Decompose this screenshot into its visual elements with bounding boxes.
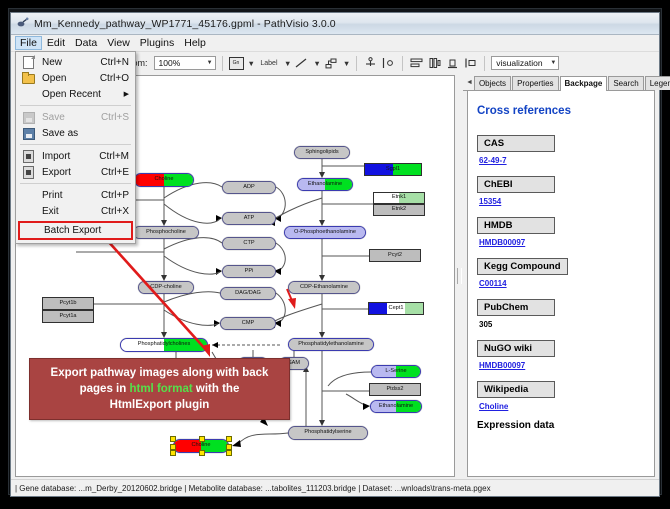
selection-handle[interactable] bbox=[170, 450, 176, 456]
selection-handle[interactable] bbox=[226, 436, 232, 442]
cross-reference-link[interactable]: 15354 bbox=[479, 197, 501, 206]
cross-reference-link[interactable]: HMDB00097 bbox=[479, 238, 525, 247]
menu-item-new-label: New bbox=[42, 57, 62, 68]
pathway-node-o-phosphoeth[interactable]: O-Phosphoethanolamine bbox=[284, 226, 366, 239]
menu-plugins[interactable]: Plugins bbox=[135, 36, 179, 50]
selection-handle[interactable] bbox=[226, 450, 232, 456]
export-icon bbox=[22, 166, 34, 178]
pathway-node-cmp[interactable]: CMP bbox=[220, 317, 276, 330]
node-label: Ethanolamine bbox=[379, 404, 413, 410]
line-dropdown-icon[interactable]: ▼ bbox=[313, 59, 320, 68]
pathway-node-atp[interactable]: ATP bbox=[222, 212, 276, 225]
cross-reference-value[interactable]: HMDB00097 bbox=[479, 361, 645, 370]
tab-search[interactable]: Search bbox=[608, 76, 643, 90]
menu-item-export[interactable]: Export Ctrl+E bbox=[16, 164, 135, 180]
menu-item-save-as[interactable]: Save as bbox=[16, 125, 135, 141]
expression-data-heading: Expression data bbox=[477, 420, 645, 431]
toolbar-separator bbox=[222, 56, 223, 71]
node-label: Choline bbox=[155, 177, 174, 183]
shape-dropdown-icon[interactable]: ▼ bbox=[343, 59, 350, 68]
align-top-icon[interactable] bbox=[409, 56, 424, 71]
node-label: O-Phosphoethanolamine bbox=[294, 230, 356, 236]
file-menu-dropdown[interactable]: New Ctrl+N Open Ctrl+O Open Recent ▶ Sav… bbox=[15, 51, 136, 244]
pathway-node-ethanolamine1[interactable]: Ethanolamine bbox=[297, 178, 353, 191]
pathway-node-cdp-choline[interactable]: CDP-choline bbox=[138, 281, 194, 294]
label-tool-icon[interactable]: Label bbox=[258, 56, 280, 71]
open-folder-icon bbox=[22, 72, 34, 84]
menu-bar: File Edit Data View Plugins Help bbox=[11, 35, 659, 52]
menu-item-exit-label: Exit bbox=[42, 206, 59, 217]
tab-scroll-left-icon[interactable]: ◄ bbox=[466, 79, 473, 86]
selection-handle[interactable] bbox=[199, 436, 205, 442]
menu-item-save: Save Ctrl+S bbox=[16, 109, 135, 125]
callout-line1: Export pathway images along with back bbox=[51, 367, 269, 379]
menu-view[interactable]: View bbox=[102, 36, 135, 50]
pathway-node-ptdcholines[interactable]: Phosphatidylcholines bbox=[120, 338, 208, 352]
pathway-node-sphingolipids[interactable]: Sphingolipids bbox=[294, 146, 350, 159]
pathway-node-pcyt2[interactable]: Pcyt2 bbox=[369, 249, 421, 262]
menu-item-export-label: Export bbox=[42, 167, 71, 178]
menu-item-new-accel: Ctrl+N bbox=[100, 57, 129, 68]
cross-reference-db-name: NuGO wiki bbox=[477, 340, 555, 357]
node-label: ATP bbox=[244, 216, 254, 222]
menu-item-print[interactable]: Print Ctrl+P bbox=[16, 187, 135, 203]
cross-reference-db-name: HMDB bbox=[477, 217, 555, 234]
menu-item-new[interactable]: New Ctrl+N bbox=[16, 54, 135, 70]
menu-item-open-recent[interactable]: Open Recent ▶ bbox=[16, 86, 135, 102]
pathway-node-dag[interactable]: DAG/DAG bbox=[220, 287, 276, 300]
pathway-node-ptdserine[interactable]: Phosphatidylserine bbox=[288, 426, 368, 440]
visualization-value: visualization bbox=[496, 58, 542, 68]
cross-reference-db-name: PubChem bbox=[477, 299, 555, 316]
menu-item-open-accel: Ctrl+O bbox=[100, 73, 129, 84]
menu-file[interactable]: File bbox=[15, 36, 42, 50]
pathway-node-l-serine[interactable]: L-Serine bbox=[371, 365, 421, 378]
title-bar: Mm_Kennedy_pathway_WP1771_45176.gpml - P… bbox=[11, 13, 659, 35]
toolbar-separator-2 bbox=[356, 56, 357, 71]
menu-item-save-accel: Ctrl+S bbox=[101, 112, 129, 123]
pathway-node-cdp-eth[interactable]: CDP-Ethanolamine bbox=[288, 281, 360, 294]
node-label: Sgpl1 bbox=[386, 167, 400, 173]
menu-item-exit-accel: Ctrl+X bbox=[101, 206, 129, 217]
cross-reference-entry: WikipediaCholine bbox=[477, 379, 645, 411]
callout-text: Export pathway images along with back pa… bbox=[43, 365, 277, 413]
cross-reference-entry: NuGO wikiHMDB00097 bbox=[477, 338, 645, 370]
cross-reference-value[interactable]: C00114 bbox=[479, 279, 645, 288]
label-dropdown-icon[interactable]: ▼ bbox=[284, 59, 291, 68]
pathway-node-sgpl1[interactable]: Sgpl1 bbox=[364, 163, 422, 176]
cross-reference-link[interactable]: HMDB00097 bbox=[479, 361, 525, 370]
menu-separator-2 bbox=[20, 144, 131, 145]
tab-backpage[interactable]: Backpage bbox=[560, 76, 608, 91]
menu-item-open-recent-label: Open Recent bbox=[42, 89, 101, 100]
menu-item-open-label: Open bbox=[42, 73, 66, 84]
datanode-dropdown-icon[interactable]: ▼ bbox=[248, 59, 255, 68]
menu-separator-1 bbox=[20, 105, 131, 106]
node-label: Sphingolipids bbox=[305, 150, 338, 156]
node-label: Phosphatidylserine bbox=[304, 430, 351, 436]
cross-reference-db-name: Wikipedia bbox=[477, 381, 555, 398]
pathway-node-etnk1[interactable]: Etnk1 bbox=[373, 192, 425, 204]
zoom-combobox[interactable]: 100% ▼ bbox=[154, 56, 216, 70]
pathway-node-ptdeth[interactable]: Phosphatidylethanolamine bbox=[288, 338, 374, 351]
line-tool-icon[interactable] bbox=[294, 56, 309, 71]
cross-reference-entry: CAS62-49-7 bbox=[477, 133, 645, 165]
pathway-node-ethanolamine2[interactable]: Ethanolamine bbox=[370, 400, 422, 413]
cross-reference-db-name: Kegg Compound bbox=[477, 258, 568, 275]
pathway-node-ptdss2[interactable]: Ptdss2 bbox=[369, 383, 421, 396]
node-label: PPi bbox=[245, 269, 254, 275]
backpage-heading: Cross references bbox=[477, 105, 645, 117]
pathway-node-phosphocholine[interactable]: Phosphocholine bbox=[133, 226, 199, 239]
save-disabled-icon bbox=[22, 111, 34, 123]
splitter-grip[interactable] bbox=[457, 268, 462, 284]
node-label: Cept1 bbox=[389, 306, 404, 312]
pathway-node-pcyt1b[interactable]: Pcyt1b bbox=[42, 297, 94, 310]
backpage-content[interactable]: Cross references CAS62-49-7ChEBI15354HMD… bbox=[467, 91, 655, 477]
toolbar-separator-3 bbox=[402, 56, 403, 71]
pathway-node-adp[interactable]: ADP bbox=[222, 181, 276, 194]
cross-reference-value[interactable]: HMDB00097 bbox=[479, 238, 645, 247]
side-panel: ◄ Objects Properties Backpage Search Leg… bbox=[463, 75, 655, 477]
cross-reference-value[interactable]: 15354 bbox=[479, 197, 645, 206]
cross-reference-entry: PubChem305 bbox=[477, 297, 645, 329]
align-left-icon[interactable] bbox=[381, 56, 396, 71]
save-icon bbox=[22, 127, 34, 139]
menu-item-save-label: Save bbox=[42, 112, 65, 123]
chevron-down-icon-2: ▼ bbox=[550, 60, 556, 66]
cross-reference-link[interactable]: C00114 bbox=[479, 279, 507, 288]
callout-line3: HtmlExport plugin bbox=[110, 399, 210, 411]
status-bar: | Gene database: ...m_Derby_20120602.bri… bbox=[11, 479, 659, 496]
submenu-arrow-icon: ▶ bbox=[124, 90, 129, 98]
toolbar-separator-4 bbox=[484, 56, 485, 71]
cross-reference-link[interactable]: Choline bbox=[479, 402, 508, 411]
datanode-tool-icon[interactable]: Gn bbox=[229, 56, 244, 71]
menu-edit[interactable]: Edit bbox=[42, 36, 70, 50]
pathvisio-window: Mm_Kennedy_pathway_WP1771_45176.gpml - P… bbox=[10, 12, 660, 497]
annotation-callout: Export pathway images along with back pa… bbox=[29, 358, 290, 420]
menu-item-import-accel: Ctrl+M bbox=[99, 151, 129, 162]
cross-reference-value: 305 bbox=[479, 320, 645, 329]
node-label: ADP bbox=[243, 185, 255, 191]
node-label: Phosphocholine bbox=[146, 230, 186, 236]
common-width-icon[interactable] bbox=[463, 56, 478, 71]
cross-reference-db-name: CAS bbox=[477, 135, 555, 152]
status-text: | Gene database: ...m_Derby_20120602.bri… bbox=[15, 484, 491, 493]
new-document-icon bbox=[22, 56, 34, 68]
node-label: Etnk2 bbox=[392, 207, 406, 213]
selection-handle[interactable] bbox=[170, 436, 176, 442]
callout-line2-b: with the bbox=[193, 383, 240, 395]
pathway-node-etnk2[interactable]: Etnk2 bbox=[373, 204, 425, 216]
selection-handle[interactable] bbox=[199, 450, 205, 456]
menu-item-print-label: Print bbox=[42, 190, 63, 201]
zoom-value: 100% bbox=[159, 58, 181, 68]
menu-data[interactable]: Data bbox=[70, 36, 102, 50]
align-bottom-icon[interactable] bbox=[445, 56, 460, 71]
menu-item-batch-export[interactable]: Batch Export bbox=[18, 221, 133, 240]
pathway-node-ctp[interactable]: CTP bbox=[222, 237, 276, 250]
import-icon bbox=[22, 150, 34, 162]
callout-line2-a: pages in bbox=[80, 383, 130, 395]
cross-reference-list: CAS62-49-7ChEBI15354HMDBHMDB00097Kegg Co… bbox=[477, 133, 645, 411]
menu-item-import-label: Import bbox=[42, 151, 70, 162]
menu-item-exit[interactable]: Exit Ctrl+X bbox=[16, 203, 135, 219]
callout-highlight: html format bbox=[129, 383, 192, 395]
visualization-combobox[interactable]: visualization ▼ bbox=[491, 56, 559, 70]
cross-reference-link[interactable]: 62-49-7 bbox=[479, 156, 507, 165]
pathway-node-ppi[interactable]: PPi bbox=[222, 265, 276, 278]
window-title: Mm_Kennedy_pathway_WP1771_45176.gpml - P… bbox=[34, 18, 336, 30]
node-label: DAG/DAG bbox=[235, 291, 261, 297]
node-label: Pcyt2 bbox=[388, 253, 402, 259]
cross-reference-entry: HMDBHMDB00097 bbox=[477, 215, 645, 247]
node-label: CTP bbox=[243, 241, 254, 247]
panel-splitter[interactable] bbox=[455, 75, 463, 477]
tab-legend[interactable]: Legend bbox=[645, 76, 670, 90]
node-label: Phosphatidylethanolamine bbox=[298, 342, 364, 348]
menu-separator-3 bbox=[20, 183, 131, 184]
node-label: CMP bbox=[242, 321, 254, 327]
node-label: CDP-choline bbox=[150, 285, 181, 291]
chevron-down-icon: ▼ bbox=[207, 60, 213, 66]
menu-help[interactable]: Help bbox=[179, 36, 211, 50]
node-label: Etnk1 bbox=[392, 195, 406, 201]
cross-reference-value[interactable]: Choline bbox=[479, 402, 645, 411]
menu-item-import[interactable]: Import Ctrl+M bbox=[16, 148, 135, 164]
node-label: Choline bbox=[192, 443, 211, 449]
node-label: CDP-Ethanolamine bbox=[300, 285, 348, 291]
tab-properties[interactable]: Properties bbox=[512, 76, 558, 90]
cross-reference-db-name: ChEBI bbox=[477, 176, 555, 193]
tab-objects[interactable]: Objects bbox=[474, 76, 511, 90]
node-label: Ptdss2 bbox=[386, 387, 403, 393]
menu-item-open[interactable]: Open Ctrl+O bbox=[16, 70, 135, 86]
cross-reference-entry: Kegg CompoundC00114 bbox=[477, 256, 645, 288]
node-label: Pcyt1a bbox=[59, 314, 76, 320]
menu-item-batch-export-label: Batch Export bbox=[44, 225, 101, 236]
align-center-vertical-icon[interactable] bbox=[427, 56, 442, 71]
pathway-node-choline[interactable]: Choline bbox=[134, 173, 194, 187]
pathvisio-app-icon bbox=[16, 17, 29, 30]
menu-item-save-as-label: Save as bbox=[42, 128, 78, 139]
menu-item-export-accel: Ctrl+E bbox=[101, 167, 129, 178]
side-panel-tabs: ◄ Objects Properties Backpage Search Leg… bbox=[463, 75, 655, 91]
menu-item-print-accel: Ctrl+P bbox=[101, 190, 129, 201]
screenshot-root: Mm_Kennedy_pathway_WP1771_45176.gpml - P… bbox=[0, 0, 670, 509]
node-label: L-Serine bbox=[385, 369, 406, 375]
node-label: Pcyt1b bbox=[59, 301, 76, 307]
anchor-tool-icon[interactable] bbox=[363, 56, 378, 71]
pathway-node-pcyt1a[interactable]: Pcyt1a bbox=[42, 310, 94, 323]
cross-reference-entry: ChEBI15354 bbox=[477, 174, 645, 206]
cross-reference-value[interactable]: 62-49-7 bbox=[479, 156, 645, 165]
pathway-node-cept1[interactable]: Cept1 bbox=[368, 302, 424, 315]
node-label: Ethanolamine bbox=[308, 182, 342, 188]
node-label: Phosphatidylcholines bbox=[138, 342, 191, 348]
shape-tool-icon[interactable] bbox=[324, 56, 339, 71]
